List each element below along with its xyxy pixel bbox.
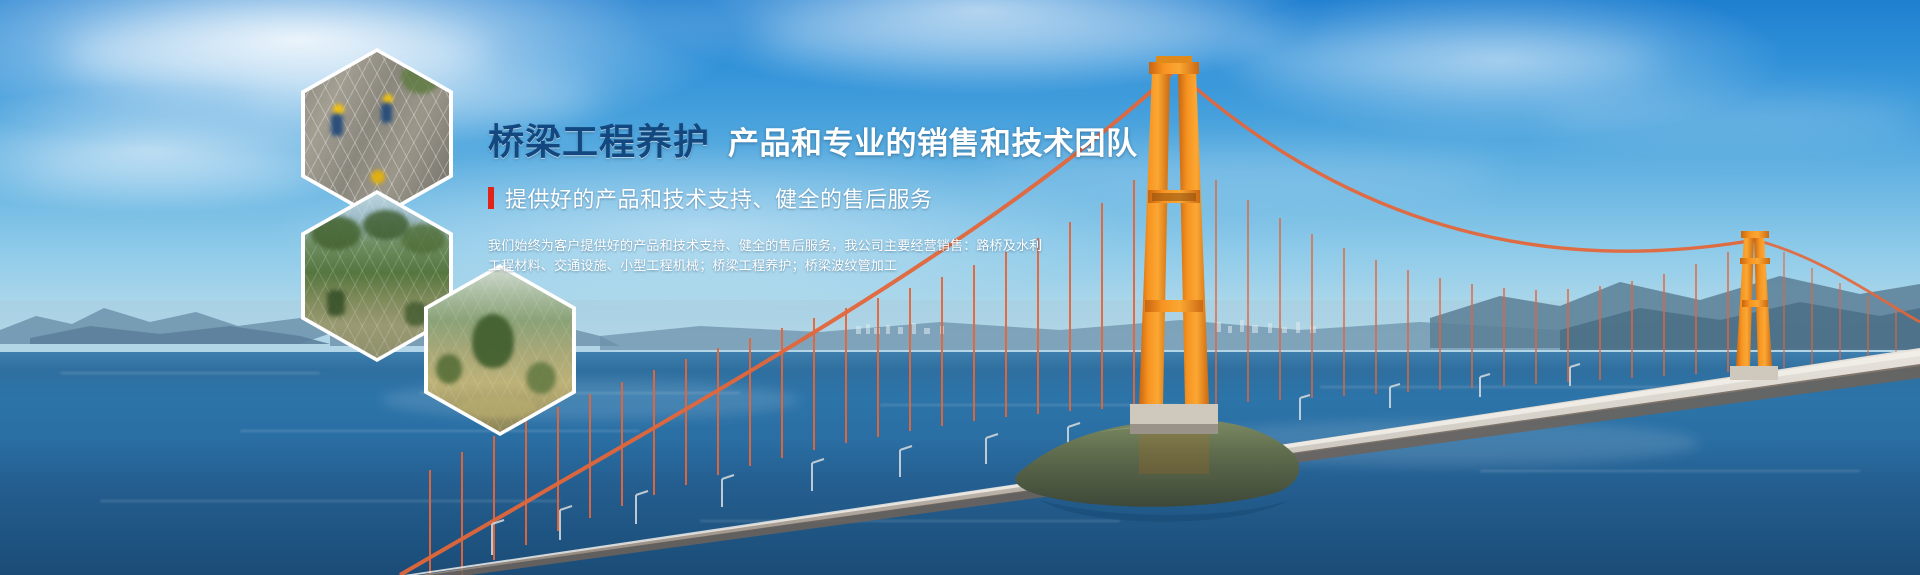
- headline: 桥梁工程养护 产品和专业的销售和技术团队: [488, 124, 1248, 160]
- tree-cluster: [401, 224, 445, 254]
- description: 我们始终为客户提供好的产品和技术支持、健全的售后服务，我公司主要经营销售：路桥及…: [488, 236, 1248, 276]
- shrub: [327, 290, 345, 316]
- shrub: [405, 302, 427, 326]
- shrub: [436, 354, 462, 384]
- hero-banner: 桥梁工程养护 产品和专业的销售和技术团队 提供好的产品和技术支持、健全的售后服务…: [0, 0, 1920, 575]
- grass-slope-shrubs-image: [428, 268, 572, 432]
- gravel-patch: [458, 396, 538, 418]
- subline: 提供好的产品和技术支持、健全的售后服务: [488, 182, 1248, 214]
- banner-content: 桥梁工程养护 产品和专业的销售和技术团队 提供好的产品和技术支持、健全的售后服务…: [488, 124, 1248, 276]
- subline-text: 提供好的产品和技术支持、健全的售后服务: [505, 182, 933, 214]
- suspension-bridge: [0, 0, 1920, 575]
- worker-body: [381, 103, 392, 123]
- tree: [472, 314, 514, 368]
- shrub: [526, 362, 556, 394]
- headline-primary: 桥梁工程养护: [488, 124, 710, 160]
- headline-secondary: 产品和专业的销售和技术团队: [728, 128, 1138, 159]
- accent-bar: [488, 187, 494, 209]
- equipment-marker: [371, 170, 385, 184]
- worker-body: [331, 114, 343, 136]
- description-line-1: 我们始终为客户提供好的产品和技术支持、健全的售后服务，我公司主要经营销售：路桥及…: [488, 236, 1248, 256]
- thumbnail-3[interactable]: [428, 268, 572, 432]
- description-line-2: 工程材料、交通设施、小型工程机械；桥梁工程养护；桥梁波纹管加工: [488, 256, 1248, 276]
